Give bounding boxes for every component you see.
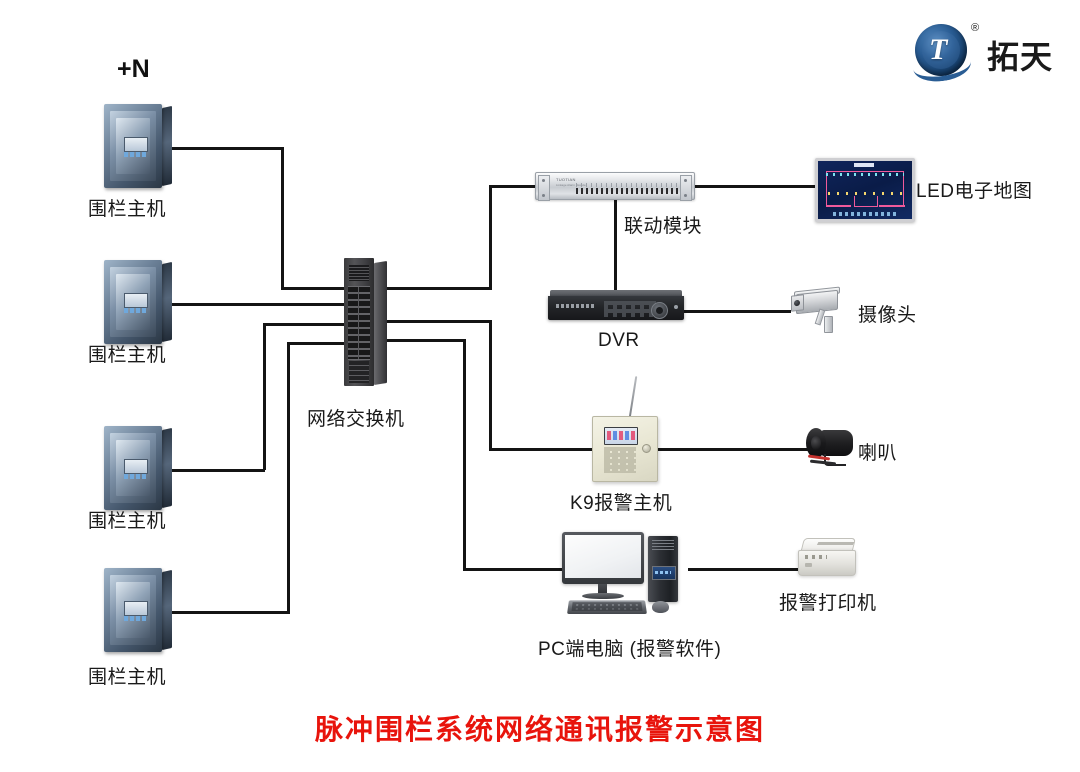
switch-side-icon xyxy=(374,261,387,385)
logo-swoosh-icon xyxy=(911,46,973,85)
led-map-header-icon xyxy=(854,163,875,167)
wire-switch-to-linkage-b xyxy=(489,186,492,289)
fence-host-keys-icon xyxy=(124,152,146,157)
logo-circle-icon: T xyxy=(915,24,967,76)
fence-host-lcd-icon xyxy=(124,293,148,308)
fence-host-lcd-icon xyxy=(124,601,148,616)
led-map-gate-icon xyxy=(854,196,879,207)
device-siren[interactable] xyxy=(806,424,866,468)
label-fence-host-1: 围栏主机 xyxy=(88,194,166,221)
device-fence-host-1[interactable] xyxy=(104,104,172,188)
linkage-rack-ear-left-icon xyxy=(538,175,550,201)
printer-panel-icon xyxy=(805,555,827,559)
fence-host-lcd-icon xyxy=(124,459,148,474)
printer-paper-slot-icon xyxy=(817,542,854,545)
linkage-brand-text: TUOTIAN xyxy=(556,177,576,182)
wire-switch-to-k9-c xyxy=(489,448,595,451)
device-dvr[interactable] xyxy=(548,290,684,322)
diagram-title: 脉冲围栏系统网络通讯报警示意图 xyxy=(0,708,1080,748)
wire-linkage-to-ledmap xyxy=(693,185,817,188)
wire-host3-into-switch xyxy=(263,323,347,326)
linkage-rack-ear-right-icon xyxy=(680,175,692,201)
brand-name: 拓天 xyxy=(987,32,1053,78)
device-pc[interactable] xyxy=(562,532,688,616)
linkage-body-icon: TUOTIAN Linkage Alarm Module xyxy=(535,172,695,200)
label-network-switch: 网络交换机 xyxy=(307,404,405,431)
diagram-canvas: T ® 拓天 +N xyxy=(0,0,1080,772)
wire-switch-to-k9-a xyxy=(386,320,492,323)
fence-host-keys-icon xyxy=(124,308,146,313)
device-camera[interactable] xyxy=(788,288,850,334)
wire-pc-to-printer xyxy=(688,568,798,571)
wire-switch-to-pc-a xyxy=(386,339,465,342)
wire-dvr-to-camera xyxy=(683,310,791,313)
wire-host4-right xyxy=(172,611,290,614)
linkage-terminals-icon xyxy=(576,188,678,194)
camera-lens-icon xyxy=(791,294,804,311)
pc-monitor-icon xyxy=(562,532,644,584)
printer-button-icon xyxy=(805,563,812,567)
printer-body-icon xyxy=(798,550,856,576)
led-map-screen-icon xyxy=(818,161,912,219)
wire-host3-right xyxy=(172,469,265,472)
switch-ports-icon xyxy=(348,286,370,360)
fence-host-side-icon xyxy=(162,428,172,508)
pc-screen-icon xyxy=(565,535,641,578)
plus-n-note: +N xyxy=(117,55,150,84)
wire-switch-to-pc-c xyxy=(463,568,565,571)
alarm-host-knob-icon xyxy=(642,444,651,453)
fence-host-keys-icon xyxy=(124,474,146,479)
wire-linkage-to-dvr xyxy=(614,199,617,291)
pc-tower-icon xyxy=(648,536,678,602)
alarm-host-antenna-icon xyxy=(629,376,638,418)
label-printer: 报警打印机 xyxy=(779,588,877,615)
device-led-map[interactable] xyxy=(815,158,915,222)
alarm-host-keypad-icon xyxy=(604,447,636,473)
linkage-ticks-icon xyxy=(576,183,678,187)
fence-host-side-icon xyxy=(162,262,172,342)
label-fence-host-4: 围栏主机 xyxy=(88,662,166,689)
led-map-zone-dots-icon xyxy=(826,173,904,176)
device-fence-host-2[interactable] xyxy=(104,260,172,344)
fence-host-side-icon xyxy=(162,106,172,186)
wire-host2-into-switch xyxy=(172,303,347,306)
dvr-face-icon xyxy=(548,296,684,320)
device-printer[interactable] xyxy=(796,538,860,582)
device-alarm-host[interactable] xyxy=(592,416,656,480)
label-fence-host-3: 围栏主机 xyxy=(88,506,166,533)
pc-mouse-icon xyxy=(652,601,669,613)
switch-front-icon xyxy=(344,258,374,386)
dvr-logo-icon xyxy=(556,304,596,308)
wire-host4-up xyxy=(287,343,290,612)
device-fence-host-4[interactable] xyxy=(104,568,172,652)
alarm-host-body-icon xyxy=(592,416,658,482)
wire-host4-into-switch xyxy=(287,342,347,345)
wire-host1-right xyxy=(172,147,284,150)
siren-cone-icon xyxy=(806,428,826,458)
label-led-map: LED电子地图 xyxy=(916,176,1032,203)
fence-host-keys-icon xyxy=(124,616,146,621)
registered-mark: ® xyxy=(971,22,979,34)
led-map-frame-icon xyxy=(815,158,915,222)
label-siren: 喇叭 xyxy=(858,438,897,465)
wire-switch-to-linkage-a xyxy=(386,287,492,290)
led-map-caption-icon xyxy=(833,212,897,216)
pc-keyboard-icon xyxy=(567,600,647,614)
wire-switch-to-k9-b xyxy=(489,320,492,450)
alarm-host-lcd-icon xyxy=(604,427,638,445)
device-network-switch[interactable] xyxy=(344,258,388,386)
wire-switch-to-pc-b xyxy=(463,339,466,570)
camera-wall-mount-icon xyxy=(824,316,833,333)
fence-host-lcd-icon xyxy=(124,137,148,152)
label-camera: 摄像头 xyxy=(858,300,917,327)
wire-host1-down xyxy=(281,147,284,289)
led-map-alarm-dots-icon xyxy=(828,192,902,195)
pc-tower-vents-icon xyxy=(652,540,674,550)
brand-logo: T ® 拓天 xyxy=(915,20,1065,78)
device-fence-host-3[interactable] xyxy=(104,426,172,510)
pc-tower-bay-icon xyxy=(652,566,676,580)
label-alarm-host: K9报警主机 xyxy=(570,488,672,515)
label-fence-host-2: 围栏主机 xyxy=(88,340,166,367)
wire-switch-to-linkage-c xyxy=(489,185,537,188)
fence-host-side-icon xyxy=(162,570,172,650)
switch-vents-icon xyxy=(349,265,369,281)
wire-k9-to-siren xyxy=(654,448,809,451)
label-dvr: DVR xyxy=(598,330,640,352)
switch-lower-ports-icon xyxy=(349,361,369,383)
dvr-jog-dial-icon xyxy=(651,302,668,319)
dvr-status-led-icon xyxy=(674,305,678,309)
wire-host3-up xyxy=(263,324,266,470)
label-linkage-module: 联动模块 xyxy=(624,211,702,238)
wire-host1-into-switch xyxy=(281,287,347,290)
label-pc: PC端电脑 (报警软件) xyxy=(538,634,721,661)
dvr-buttons-icon xyxy=(604,301,656,317)
device-linkage-module[interactable]: TUOTIAN Linkage Alarm Module xyxy=(535,172,695,200)
pc-stand-base-icon xyxy=(582,593,624,599)
